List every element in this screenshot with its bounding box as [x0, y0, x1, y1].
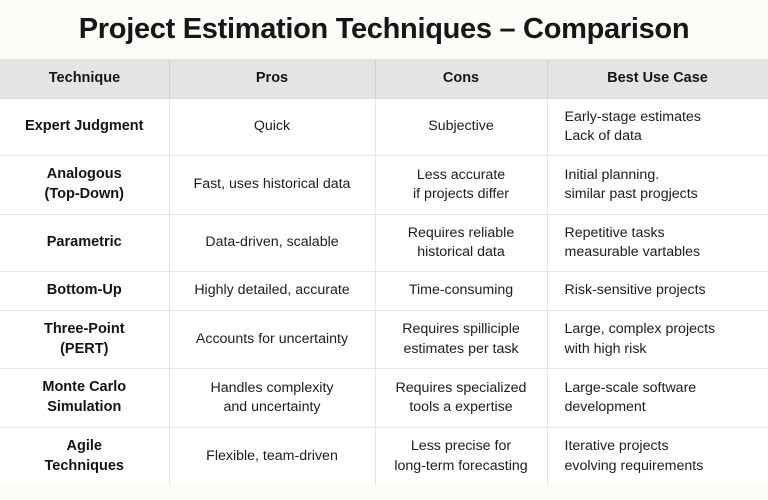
- cell-best: Repetitive tasksmeasurable vartables: [547, 214, 768, 272]
- cell-pros: Accounts for uncertainty: [169, 310, 375, 368]
- cell-best: Initial planning.similar past progjects: [547, 156, 768, 214]
- cell-line: Quick: [180, 117, 365, 136]
- cell-line: Less precise for: [386, 437, 537, 456]
- column-header-best-use-case: Best Use Case: [547, 59, 768, 98]
- cell-pros: Handles complexityand uncertainty: [169, 369, 375, 427]
- cell-line: Large-scale software: [565, 379, 759, 398]
- table-row: ParametricData-driven, scalableRequires …: [0, 214, 768, 272]
- cell-line: Requires reliable: [386, 224, 537, 243]
- cell-line: estimates per task: [386, 340, 537, 359]
- column-header-pros: Pros: [169, 59, 375, 98]
- cell-line: Three-Point: [10, 320, 159, 340]
- cell-line: Large, complex projects: [565, 320, 759, 339]
- cell-cons: Time-consuming: [375, 272, 547, 311]
- cell-technique: Bottom-Up: [0, 272, 169, 311]
- comparison-table: Technique Pros Cons Best Use Case Expert…: [0, 59, 768, 485]
- table-row: Analogous(Top-Down)Fast, uses historical…: [0, 156, 768, 214]
- cell-pros: Quick: [169, 98, 375, 156]
- cell-line: Lack of data: [565, 127, 759, 146]
- table-row: Bottom-UpHighly detailed, accurateTime-c…: [0, 272, 768, 311]
- cell-technique: AgileTechniques: [0, 427, 169, 485]
- cell-line: Time-consuming: [386, 281, 537, 300]
- cell-technique: Analogous(Top-Down): [0, 156, 169, 214]
- cell-line: if projects differ: [386, 185, 537, 204]
- table-row: Monte CarloSimulationHandles complexitya…: [0, 369, 768, 427]
- cell-cons: Requires spillicipleestimates per task: [375, 310, 547, 368]
- cell-cons: Less precise forlong-term forecasting: [375, 427, 547, 485]
- cell-technique: Expert Judgment: [0, 98, 169, 156]
- cell-cons: Subjective: [375, 98, 547, 156]
- cell-cons: Requires specializedtools a expertise: [375, 369, 547, 427]
- table-body: Expert JudgmentQuickSubjectiveEarly-stag…: [0, 98, 768, 485]
- cell-line: Parametric: [10, 233, 159, 253]
- cell-line: Risk-sensitive projects: [565, 281, 759, 300]
- cell-line: Repetitive tasks: [565, 224, 759, 243]
- cell-line: Expert Judgment: [10, 117, 159, 137]
- cell-line: Analogous: [10, 165, 159, 185]
- cell-line: historical data: [386, 243, 537, 262]
- cell-line: Iterative projects: [565, 437, 759, 456]
- cell-line: (PERT): [10, 340, 159, 360]
- table-header-row: Technique Pros Cons Best Use Case: [0, 59, 768, 98]
- cell-line: Data-driven, scalable: [180, 233, 365, 252]
- cell-line: Monte Carlo: [10, 378, 159, 398]
- table-row: Three-Point(PERT)Accounts for uncertaint…: [0, 310, 768, 368]
- cell-line: long-term forecasting: [386, 457, 537, 476]
- cell-line: Accounts for uncertainty: [180, 330, 365, 349]
- cell-technique: Monte CarloSimulation: [0, 369, 169, 427]
- cell-line: Initial planning.: [565, 166, 759, 185]
- cell-line: evolving requirements: [565, 457, 759, 476]
- cell-line: Subjective: [386, 117, 537, 136]
- cell-pros: Highly detailed, accurate: [169, 272, 375, 311]
- cell-cons: Requires reliablehistorical data: [375, 214, 547, 272]
- table-row: Expert JudgmentQuickSubjectiveEarly-stag…: [0, 98, 768, 156]
- cell-line: Handles complexity: [180, 379, 365, 398]
- cell-line: Techniques: [10, 457, 159, 477]
- cell-line: and uncertainty: [180, 398, 365, 417]
- cell-technique: Three-Point(PERT): [0, 310, 169, 368]
- cell-best: Large, complex projectswith high risk: [547, 310, 768, 368]
- cell-line: Requires specialized: [386, 379, 537, 398]
- cell-line: similar past progjects: [565, 185, 759, 204]
- cell-line: Highly detailed, accurate: [180, 281, 365, 300]
- cell-pros: Data-driven, scalable: [169, 214, 375, 272]
- column-header-technique: Technique: [0, 59, 169, 98]
- cell-line: tools a expertise: [386, 398, 537, 417]
- cell-line: development: [565, 398, 759, 417]
- cell-best: Large-scale softwaredevelopment: [547, 369, 768, 427]
- cell-best: Early-stage estimatesLack of data: [547, 98, 768, 156]
- cell-line: Bottom-Up: [10, 281, 159, 301]
- cell-pros: Fast, uses historical data: [169, 156, 375, 214]
- table-row: AgileTechniquesFlexible, team-drivenLess…: [0, 427, 768, 485]
- page-title: Project Estimation Techniques – Comparis…: [0, 0, 768, 59]
- cell-line: Agile: [10, 437, 159, 457]
- cell-cons: Less accurateif projects differ: [375, 156, 547, 214]
- cell-line: Simulation: [10, 398, 159, 418]
- table-header: Technique Pros Cons Best Use Case: [0, 59, 768, 98]
- cell-line: Less accurate: [386, 166, 537, 185]
- cell-best: Risk-sensitive projects: [547, 272, 768, 311]
- cell-best: Iterative projectsevolving requirements: [547, 427, 768, 485]
- cell-line: Flexible, team-driven: [180, 447, 365, 466]
- cell-line: with high risk: [565, 340, 759, 359]
- cell-line: measurable vartables: [565, 243, 759, 262]
- cell-pros: Flexible, team-driven: [169, 427, 375, 485]
- cell-line: (Top-Down): [10, 185, 159, 205]
- column-header-cons: Cons: [375, 59, 547, 98]
- cell-technique: Parametric: [0, 214, 169, 272]
- comparison-table-page: Project Estimation Techniques – Comparis…: [0, 0, 768, 500]
- cell-line: Early-stage estimates: [565, 108, 759, 127]
- cell-line: Requires spilliciple: [386, 320, 537, 339]
- cell-line: Fast, uses historical data: [180, 175, 365, 194]
